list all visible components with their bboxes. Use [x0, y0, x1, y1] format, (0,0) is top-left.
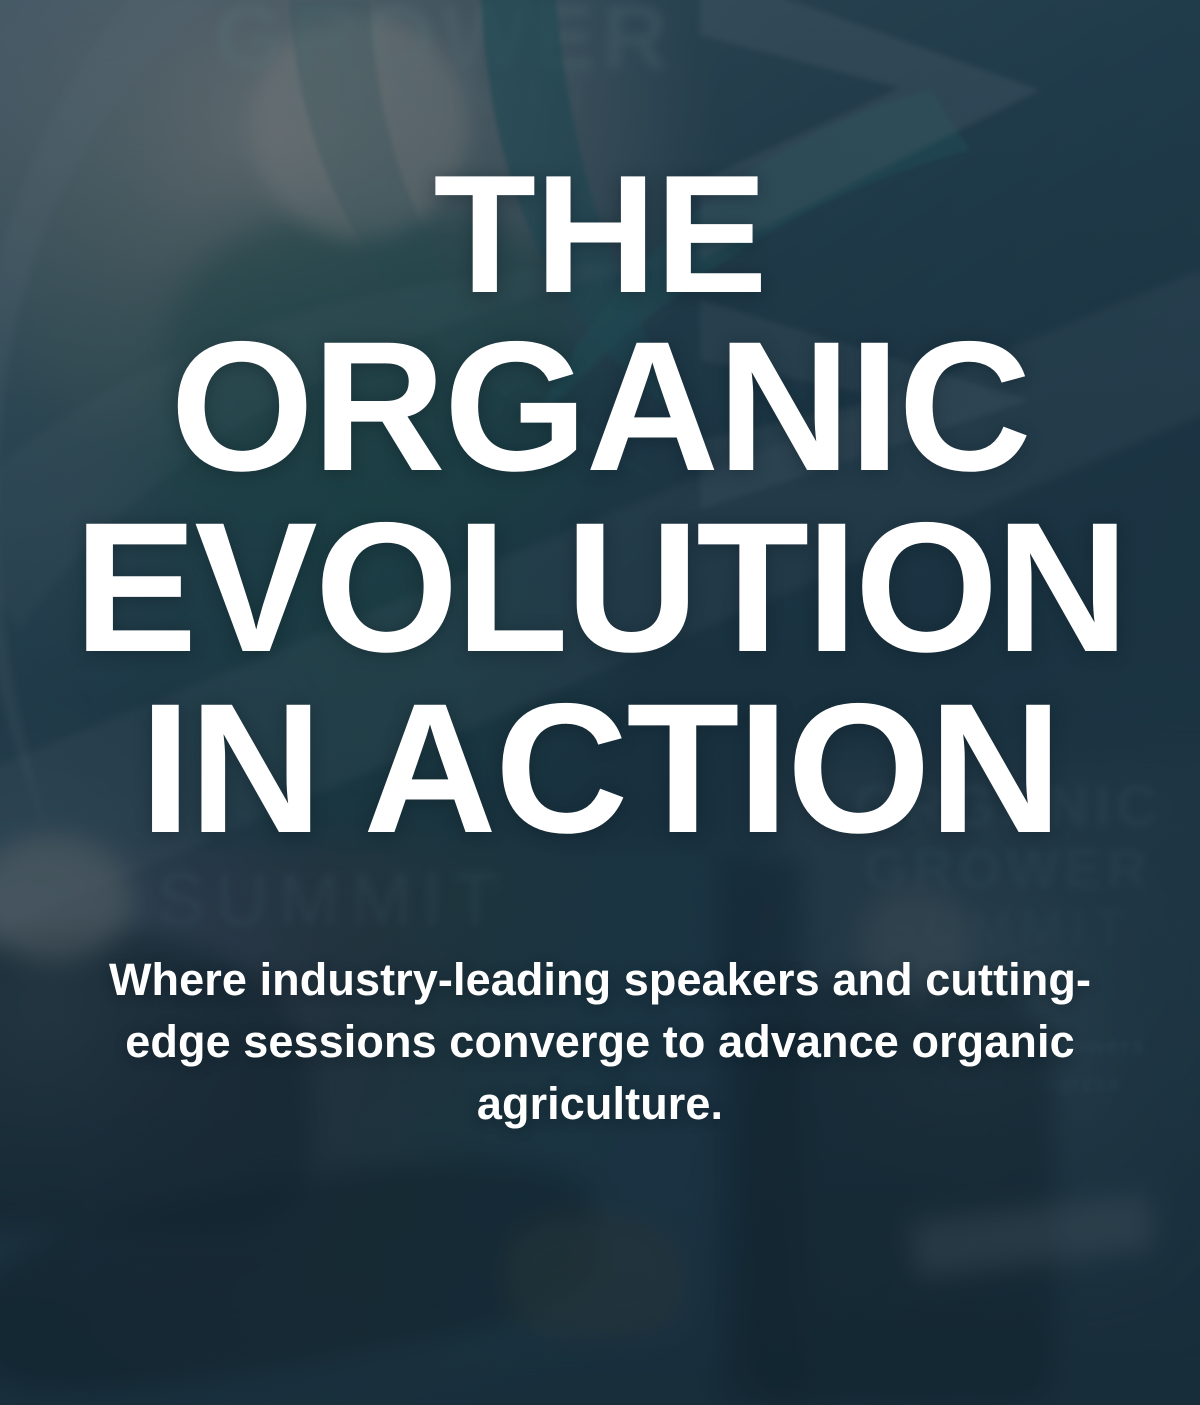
hero-headline: THE ORGANIC EVOLUTION IN ACTION: [74, 152, 1126, 861]
hero-banner: GROWER SUMMIT: [0, 0, 1200, 1405]
hero-content: THE ORGANIC EVOLUTION IN ACTION Where in…: [0, 0, 1200, 1405]
hero-subtitle: Where industry-leading speakers and cutt…: [100, 949, 1100, 1135]
headline-line-2: ORGANIC: [74, 317, 1126, 498]
headline-line-3: EVOLUTION: [74, 498, 1126, 679]
headline-line-4: IN ACTION: [74, 679, 1126, 860]
headline-wrapper: THE ORGANIC EVOLUTION IN ACTION: [74, 152, 1126, 861]
headline-line-1: THE: [74, 152, 1126, 317]
